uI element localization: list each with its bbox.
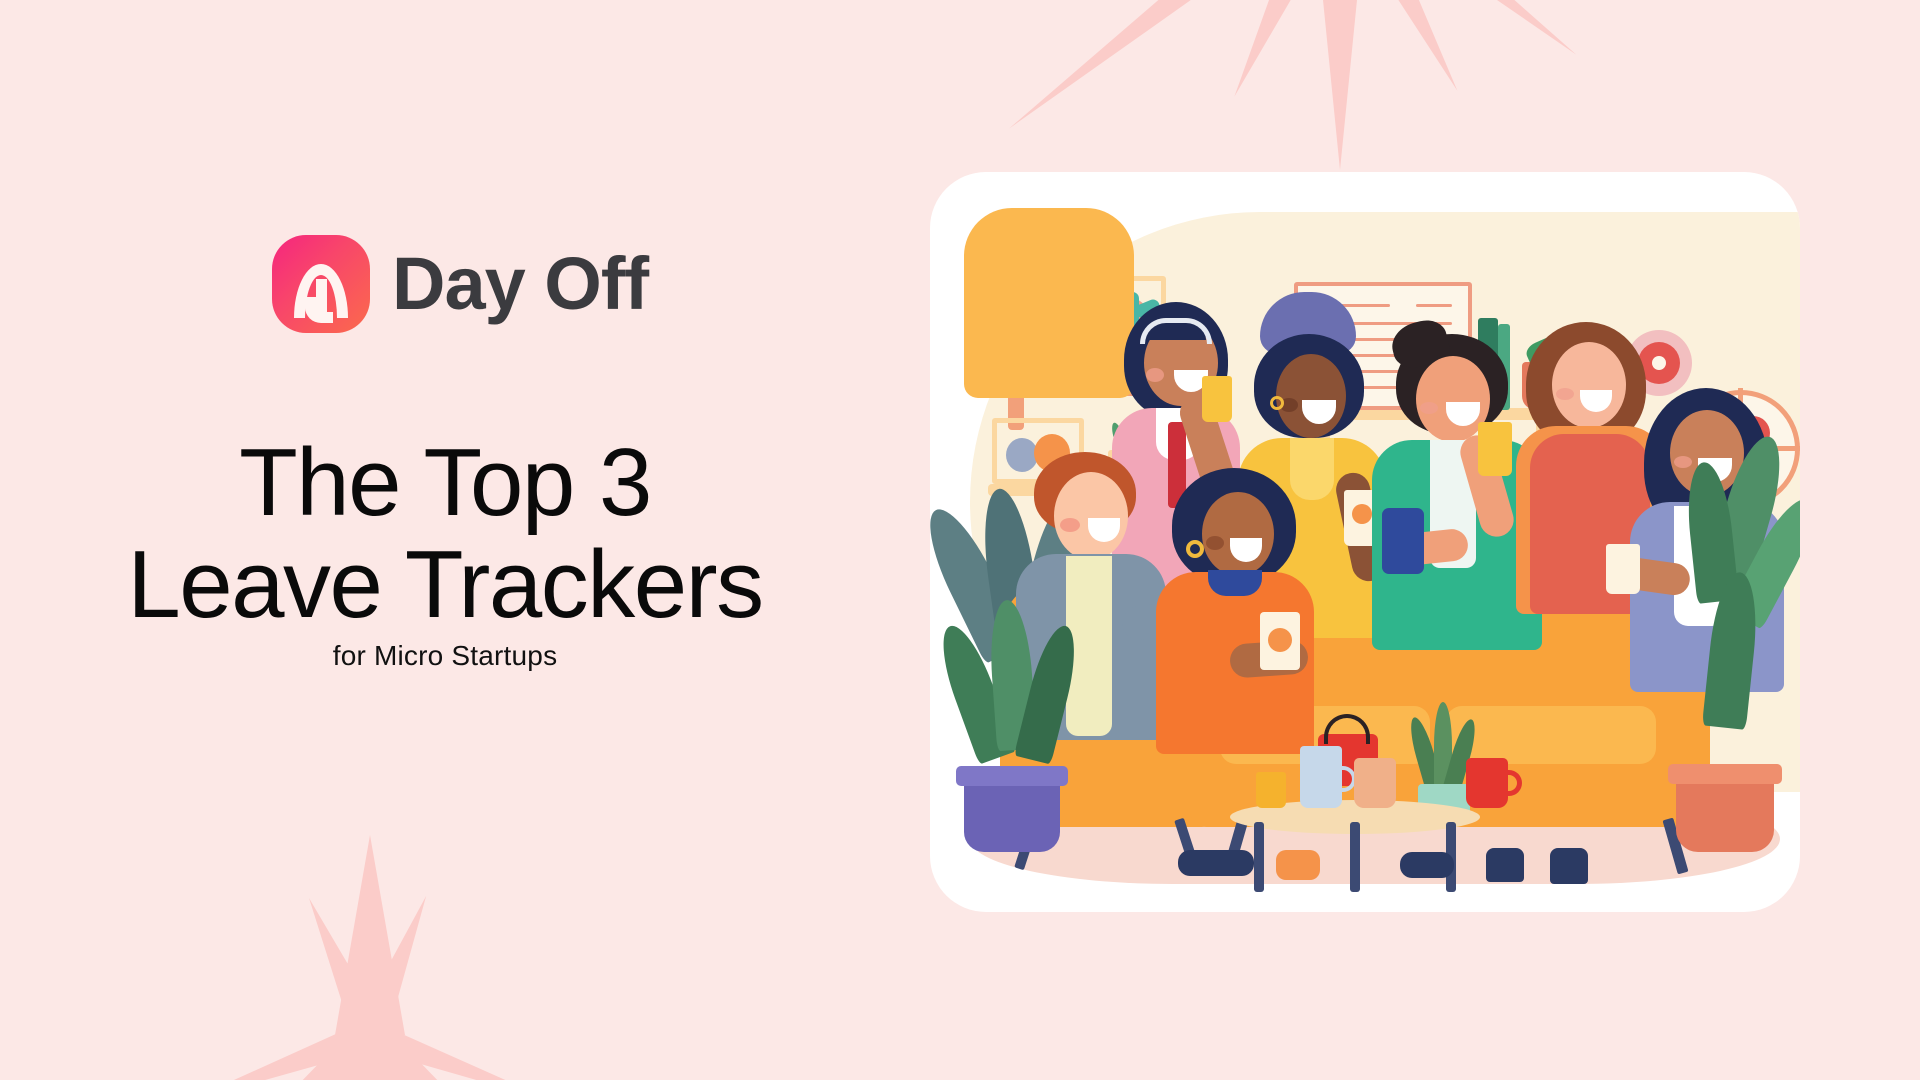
face bbox=[1276, 354, 1346, 438]
headline-line-2: Leave Trackers bbox=[0, 534, 890, 636]
brand-lockup: Day Off bbox=[272, 235, 648, 333]
mug-patterned bbox=[1354, 758, 1396, 808]
starburst-ray bbox=[997, 0, 1353, 144]
starburst-ray bbox=[1310, 0, 1370, 170]
sofa-cushion bbox=[1446, 706, 1656, 764]
face bbox=[1202, 492, 1274, 576]
heel-shoe bbox=[1550, 848, 1588, 884]
smartphone bbox=[1382, 508, 1424, 574]
pot-rim bbox=[956, 766, 1068, 786]
pitcher bbox=[1300, 746, 1342, 808]
earring bbox=[1270, 396, 1284, 410]
drink-cup bbox=[1606, 544, 1640, 594]
shirt-vee bbox=[1290, 438, 1334, 500]
lounge-scene bbox=[930, 172, 1800, 912]
logo-hook-shape bbox=[305, 297, 333, 323]
pot-rim bbox=[1668, 764, 1782, 784]
shoe bbox=[1178, 850, 1254, 876]
shoe bbox=[1276, 850, 1320, 880]
table-leg bbox=[1254, 822, 1264, 892]
cup-logo bbox=[1352, 504, 1372, 524]
starburst-ray bbox=[1321, 0, 1477, 101]
day-off-logo-icon bbox=[272, 235, 370, 333]
brand-name: Day Off bbox=[392, 247, 648, 321]
starburst-ray bbox=[1329, 0, 1588, 69]
page-title: The Top 3 Leave Trackers bbox=[0, 432, 890, 636]
wall-clock-center bbox=[1652, 356, 1666, 370]
starburst-ray bbox=[1214, 0, 1361, 106]
table-leg bbox=[1350, 822, 1360, 892]
face bbox=[1054, 472, 1128, 560]
mug-red bbox=[1466, 758, 1508, 808]
drink-cup bbox=[1478, 422, 1512, 476]
hoop-earring bbox=[1186, 540, 1204, 558]
heel-shoe bbox=[1486, 848, 1524, 882]
face bbox=[1552, 342, 1626, 428]
turtleneck-collar bbox=[1208, 570, 1262, 596]
illustration-card bbox=[930, 172, 1800, 912]
drink-cup bbox=[1202, 376, 1232, 422]
headline-line-1: The Top 3 bbox=[0, 432, 890, 534]
hero-text-column: Day Off The Top 3 Leave Trackers for Mic… bbox=[0, 0, 900, 1080]
armchair-cushion bbox=[964, 208, 1134, 398]
terracotta-pot bbox=[1676, 772, 1774, 852]
tumbler-yellow bbox=[1256, 772, 1286, 808]
cup-logo bbox=[1268, 628, 1292, 652]
page-subtitle: for Micro Startups bbox=[0, 640, 890, 672]
shoe bbox=[1400, 852, 1454, 878]
